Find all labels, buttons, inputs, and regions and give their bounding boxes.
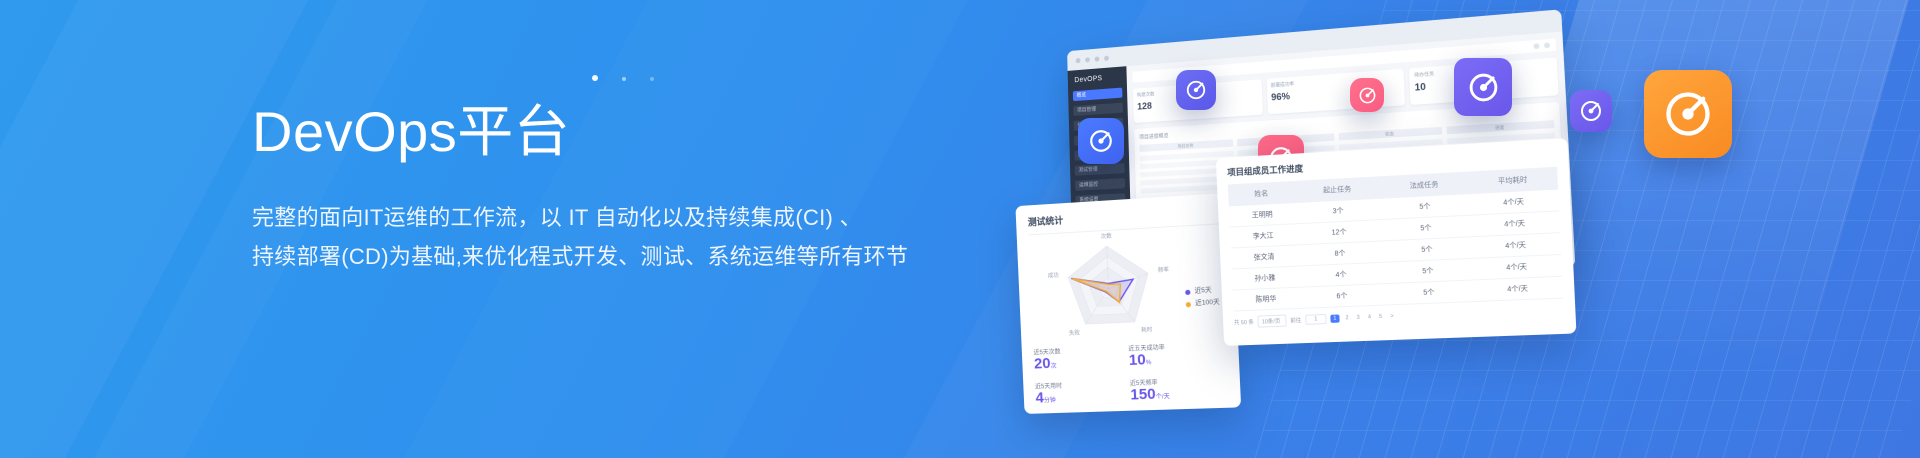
col-header-3: 进度 [1446, 120, 1555, 134]
rocket-icon [1185, 79, 1207, 101]
brand-logo: DevOPS [1072, 74, 1122, 85]
legend-swatch-icon [1185, 289, 1190, 294]
kpi-unit: 个/天 [1156, 394, 1170, 401]
page-button-4[interactable]: 4 [1366, 314, 1373, 320]
cell-started: 6个 [1299, 284, 1386, 309]
tile-pink-small[interactable] [1350, 78, 1384, 112]
dashboard-illustration: DevOPS 概览 项目管理 代码仓库 持续集成 持续部署 测试管理 运维监控 … [1030, 10, 1920, 450]
svg-text:耗时: 耗时 [1141, 325, 1153, 334]
tile-violet-small[interactable] [1570, 90, 1612, 132]
cell-name: 孙小雅 [1232, 266, 1299, 290]
radar-legend: 近5天 近100天 [1185, 284, 1220, 310]
kpi-number: 20 [1034, 355, 1051, 373]
legend-label: 近100天 [1195, 297, 1220, 310]
svg-text:失败: 失败 [1069, 328, 1081, 337]
legend-label: 近5天 [1194, 285, 1212, 298]
svg-text:成功: 成功 [1048, 271, 1060, 280]
tile-violet[interactable] [1454, 58, 1512, 116]
kpi-2: 近5天用时 4分钟 [1035, 378, 1131, 409]
window-dot-icon [1085, 57, 1090, 62]
cell-name: 张文清 [1231, 245, 1298, 269]
rocket-icon [1662, 88, 1714, 140]
kpi-1: 近五天成功率 10% [1128, 340, 1227, 372]
cell-name: 陈明华 [1233, 287, 1300, 311]
kpi-unit: 分钟 [1044, 398, 1056, 404]
test-statistics-card: 测试统计 次数频率耗时失败成功 近5天 近100天 近5天次数 [1015, 193, 1241, 414]
window-dot-icon [1076, 58, 1081, 63]
window-dot-icon [1095, 56, 1100, 61]
hero-copy: DevOps平台 完整的面向IT运维的工作流，以 IT 自动化以及持续集成(CI… [252, 100, 1052, 276]
col-header-0: 项目名称 [1139, 139, 1232, 152]
avatar[interactable] [1544, 42, 1550, 48]
hero-subtitle-line-1: 完整的面向IT运维的工作流，以 IT 自动化以及持续集成(CI) 、 [252, 198, 1052, 237]
sidebar-item-5[interactable]: 测试管理 [1075, 163, 1125, 176]
kpi-3: 近5天频率 150个/天 [1130, 375, 1229, 407]
rocket-icon [1088, 128, 1114, 154]
sidebar-item-6[interactable]: 运维监控 [1075, 178, 1125, 191]
member-progress-card: 项目组成员工作进度 姓名 起止任务 法成任务 平均耗时 王明明 3个 5个 [1216, 138, 1577, 346]
kpi-grid: 近5天次数 20次 近五天成功率 10% 近5天用时 4分钟 近5天频率 150… [1033, 340, 1228, 414]
page-button-1[interactable]: 1 [1330, 314, 1339, 322]
pagination-goto-label: 前往 [1290, 316, 1301, 324]
devops-hero-banner: DevOps平台 完整的面向IT运维的工作流，以 IT 自动化以及持续集成(CI… [0, 0, 1920, 458]
page-title: DevOps平台 [252, 100, 1052, 164]
kpi-number: 10 [1128, 351, 1146, 369]
col-header-2: 状态 [1339, 127, 1442, 141]
page-next-button[interactable]: > [1388, 313, 1396, 319]
sidebar-item-1[interactable]: 项目管理 [1073, 103, 1123, 116]
page-button-3[interactable]: 3 [1355, 315, 1362, 321]
kpi-value: 20次 [1034, 353, 1130, 376]
member-progress-table: 姓名 起止任务 法成任务 平均耗时 王明明 3个 5个 4个/天 李大江 [1228, 167, 1563, 312]
sidebar-item-0[interactable]: 概览 [1073, 88, 1123, 102]
kpi-value: 10% [1128, 349, 1226, 372]
kpi-value: 150个/天 [1130, 384, 1228, 407]
window-dot-icon [1104, 55, 1109, 60]
radar-chart: 次数频率耗时失败成功 近5天 近100天 [1029, 226, 1226, 345]
kpi-0: 近5天次数 20次 [1033, 344, 1129, 376]
bell-icon[interactable] [1533, 43, 1539, 49]
rocket-icon [1358, 86, 1377, 105]
rocket-icon [1467, 71, 1500, 104]
kpi-number: 150 [1130, 385, 1156, 403]
hero-subtitle-line-2: 持续部署(CD)为基础,来优化程式开发、测试、系统运维等所有环节 [252, 237, 1052, 276]
cell-avg: 4个/天 [1473, 276, 1564, 301]
decorative-dots [592, 73, 682, 83]
legend-swatch-icon [1186, 302, 1191, 307]
kpi-unit: 次 [1050, 364, 1056, 370]
page-button-2[interactable]: 2 [1343, 315, 1350, 321]
cell-done: 5个 [1385, 280, 1474, 305]
page-button-5[interactable]: 5 [1377, 314, 1384, 320]
dot-large-icon [592, 75, 598, 81]
page-size-select[interactable]: 10条/页 [1258, 315, 1287, 328]
kpi-value: 4分钟 [1035, 387, 1131, 409]
svg-text:次数: 次数 [1100, 231, 1112, 240]
legend-item-1: 近100天 [1186, 297, 1220, 311]
dot-medium-icon [622, 77, 626, 81]
table-body: 王明明 3个 5个 4个/天 李大江 12个 5个 4个/天 张文清 8个 [1229, 190, 1563, 311]
hero-subtitle: 完整的面向IT运维的工作流，以 IT 自动化以及持续集成(CI) 、 持续部署(… [252, 198, 1052, 276]
stat-card-1: 部署成功率 96% [1266, 69, 1405, 114]
svg-text:频率: 频率 [1158, 265, 1170, 274]
dot-small-icon [650, 77, 654, 81]
tile-orange[interactable] [1644, 70, 1732, 158]
tile-indigo[interactable] [1176, 70, 1216, 110]
pagination-goto-input[interactable]: 1 [1305, 314, 1327, 325]
pagination-total: 共 50 条 [1234, 318, 1254, 327]
rocket-icon [1579, 99, 1603, 123]
tile-blue[interactable] [1078, 118, 1124, 164]
kpi-unit: % [1146, 360, 1152, 366]
